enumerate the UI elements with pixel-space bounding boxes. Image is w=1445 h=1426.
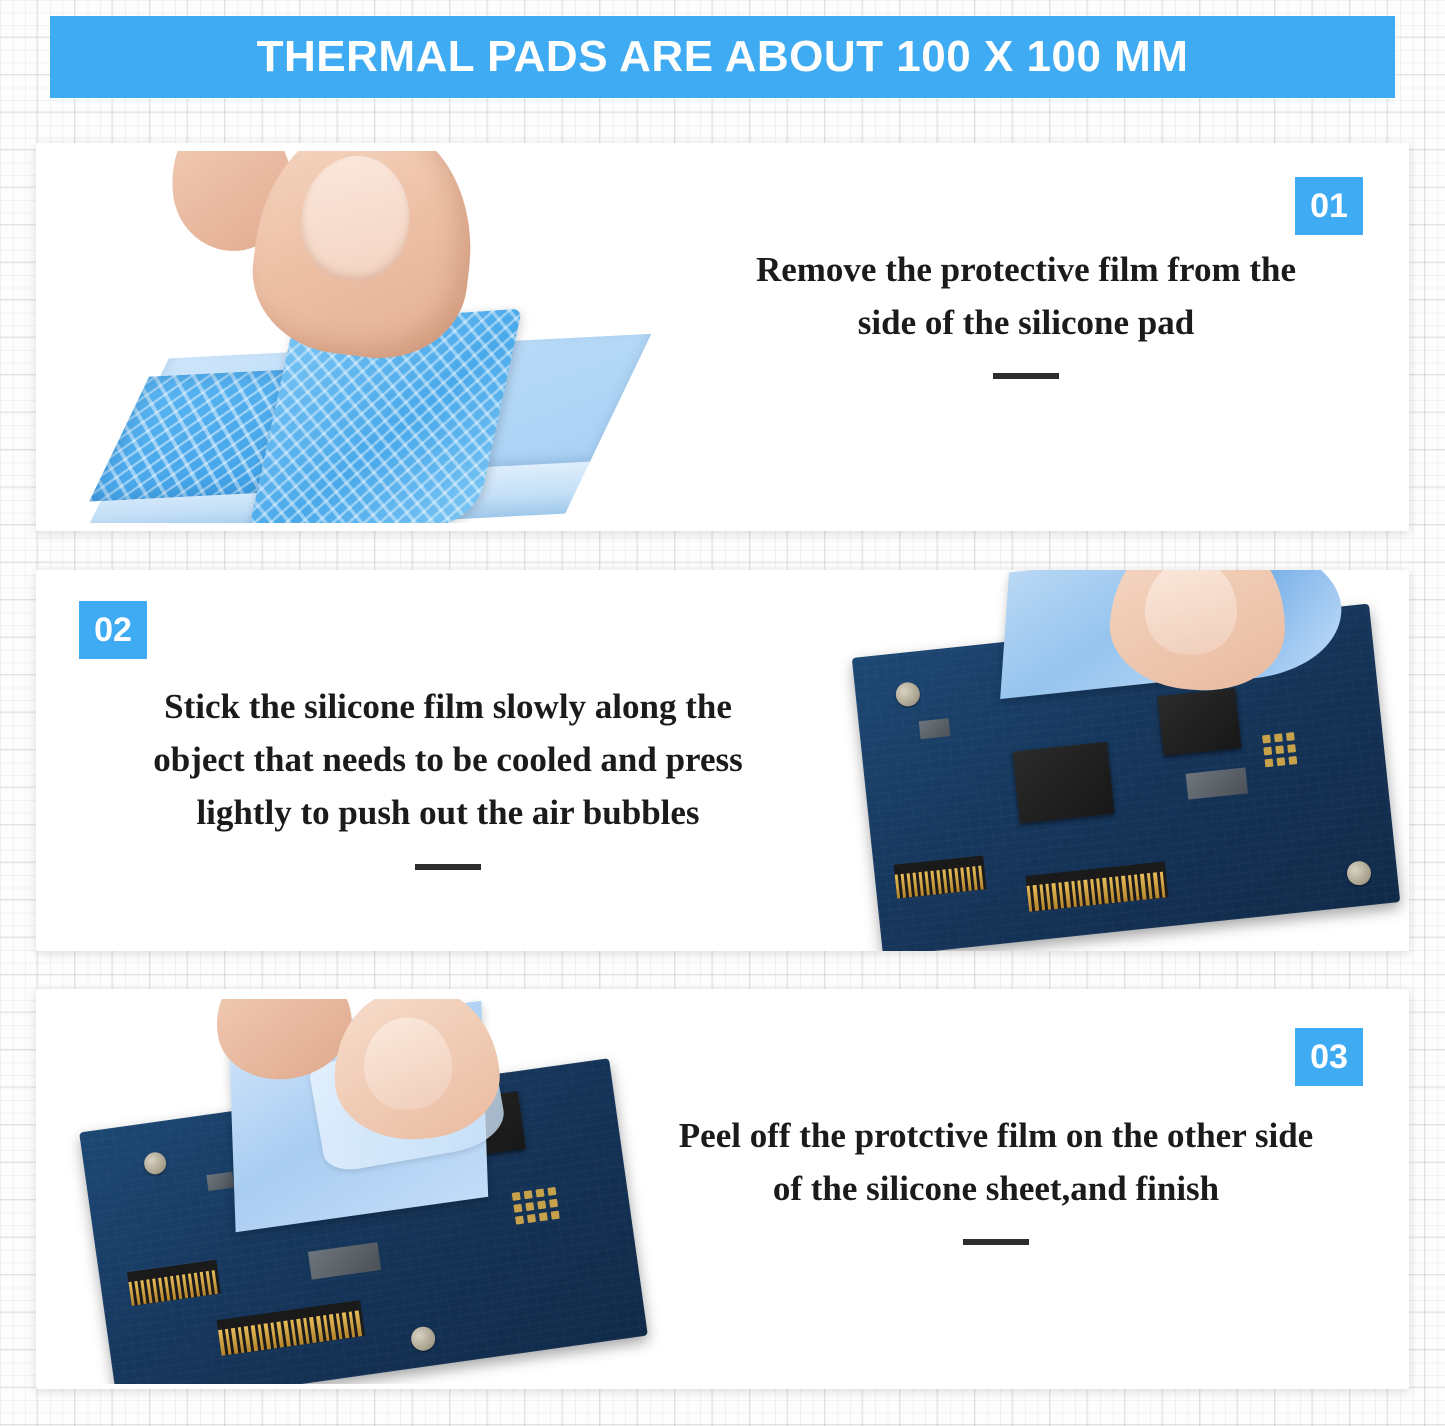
mounting-hole — [410, 1325, 437, 1352]
capacitor — [206, 1172, 234, 1191]
step-3-badge: 03 — [1295, 1028, 1363, 1086]
step-2-image — [826, 570, 1409, 951]
step-1-divider — [993, 373, 1059, 379]
step-3-divider — [963, 1239, 1029, 1245]
sata-data-connector — [1025, 861, 1168, 911]
sata-power-connector — [894, 855, 987, 898]
step-2-divider — [415, 864, 481, 870]
small-component — [308, 1242, 381, 1279]
thumbnail-icon — [294, 151, 416, 287]
step-1-badge: 01 — [1295, 177, 1363, 235]
step-2-caption-text: Stick the silicone film slowly along the… — [128, 680, 768, 840]
nand-chip — [1157, 688, 1241, 756]
mounting-hole — [895, 681, 921, 707]
step-1-image — [82, 151, 682, 523]
thumbnail-icon — [1142, 570, 1240, 658]
mounting-hole — [143, 1151, 168, 1176]
solder-pad-array — [512, 1187, 560, 1225]
step-1-caption-block: Remove the protective film from the side… — [726, 243, 1326, 379]
step-3-image — [66, 999, 666, 1384]
small-component — [1186, 767, 1248, 799]
sata-data-connector — [217, 1300, 366, 1356]
controller-chip — [1012, 742, 1114, 824]
step-3-caption-block: Peel off the protctive film on the other… — [676, 1109, 1316, 1245]
sata-power-connector — [127, 1260, 221, 1306]
solder-pad-array — [1262, 732, 1297, 767]
step-2-badge: 02 — [79, 601, 147, 659]
step-2-caption-block: Stick the silicone film slowly along the… — [128, 680, 768, 870]
step-card-2: 02 Stick the silicone film slowly along … — [36, 570, 1409, 951]
capacitor — [919, 718, 951, 739]
page-title: THERMAL PADS ARE ABOUT 100 X 100 MM — [257, 32, 1189, 82]
step-1-caption-text: Remove the protective film from the side… — [726, 243, 1326, 349]
thumbnail-icon — [362, 1015, 455, 1111]
step-3-caption-text: Peel off the protctive film on the other… — [676, 1109, 1316, 1215]
mounting-hole — [1346, 860, 1372, 886]
step-card-1: 01 Remove the protective film from the s… — [36, 143, 1409, 531]
header-banner: THERMAL PADS ARE ABOUT 100 X 100 MM — [50, 16, 1395, 98]
step-card-3: 03 Peel off the protctive film on the ot… — [36, 989, 1409, 1389]
